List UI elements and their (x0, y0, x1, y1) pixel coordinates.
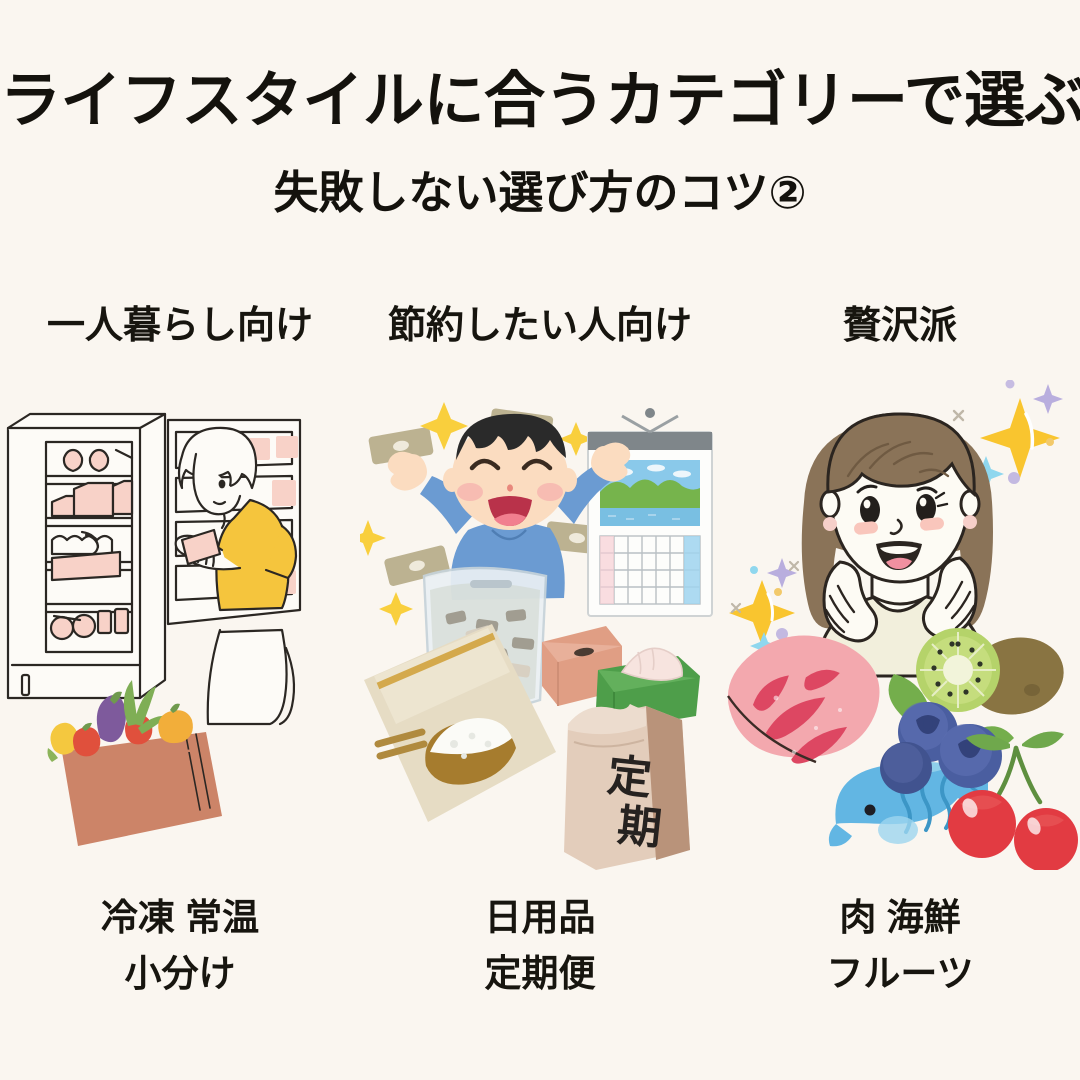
caption-line-2: 定期便 (360, 946, 720, 1002)
poster-canvas: ライフスタイルに合うカテゴリーで選ぶ 失敗しない選び方のコツ② 一人暮らし向け (0, 0, 1080, 1080)
caption-line-1: 冷凍 常温 (0, 890, 360, 946)
illustration-savings-man-subscription-goods: 定 期 (360, 380, 720, 870)
illustration-refrigerator-woman-groceries (0, 380, 360, 870)
category-column-budget: 節約したい人向け (360, 280, 720, 1040)
illustration-delighted-woman-premium-foods (720, 380, 1080, 870)
page-title: ライフスタイルに合うカテゴリーで選ぶ (0, 68, 1080, 132)
column-caption-luxury: 肉 海鮮 フルーツ (720, 890, 1080, 1002)
svg-text:期: 期 (615, 801, 664, 854)
caption-line-2: フルーツ (720, 946, 1080, 1002)
page-subtitle: 失敗しない選び方のコツ② (0, 168, 1080, 218)
caption-line-2: 小分け (0, 946, 360, 1002)
column-caption-budget: 日用品 定期便 (360, 890, 720, 1002)
column-heading-solo-living: 一人暮らし向け (0, 294, 360, 349)
caption-line-1: 肉 海鮮 (720, 890, 1080, 946)
caption-line-1: 日用品 (360, 890, 720, 946)
category-column-solo-living: 一人暮らし向け (0, 280, 360, 1040)
column-caption-solo-living: 冷凍 常温 小分け (0, 890, 360, 1002)
column-heading-luxury: 贅沢派 (720, 294, 1080, 349)
category-column-luxury: 贅沢派 (720, 280, 1080, 1040)
svg-text:定: 定 (605, 751, 654, 804)
column-heading-budget: 節約したい人向け (360, 294, 720, 349)
